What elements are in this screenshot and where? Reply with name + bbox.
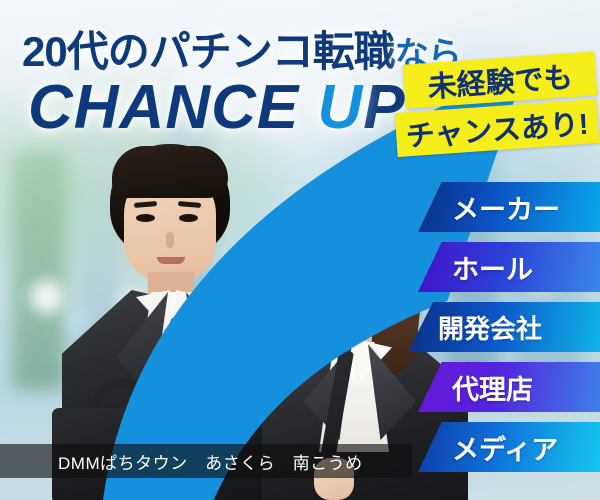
credits-text: DMMぱちタウン あさくら 南こうめ [58,449,363,474]
category-button-hall[interactable]: ホール [418,242,600,292]
category-button-maker[interactable]: メーカー [418,182,600,232]
advertisement-banner[interactable]: 20代のパチンコ転職なら CHANCE UP 未経験でも チャンスあり! メーカ… [0,0,600,500]
category-list: メーカー ホール 開発会社 代理店 メディア [0,0,600,500]
category-label: ホール [452,248,533,287]
category-button-agency[interactable]: 代理店 [418,362,600,412]
category-label: 開発会社 [438,309,542,346]
credits-bar: DMMぱちタウン あさくら 南こうめ [0,444,412,478]
category-label: メーカー [452,188,560,227]
category-button-media[interactable]: メディア [418,422,600,472]
category-button-development-company[interactable]: 開発会社 [408,302,600,352]
category-label: メディア [452,428,558,467]
category-label: 代理店 [452,368,533,407]
